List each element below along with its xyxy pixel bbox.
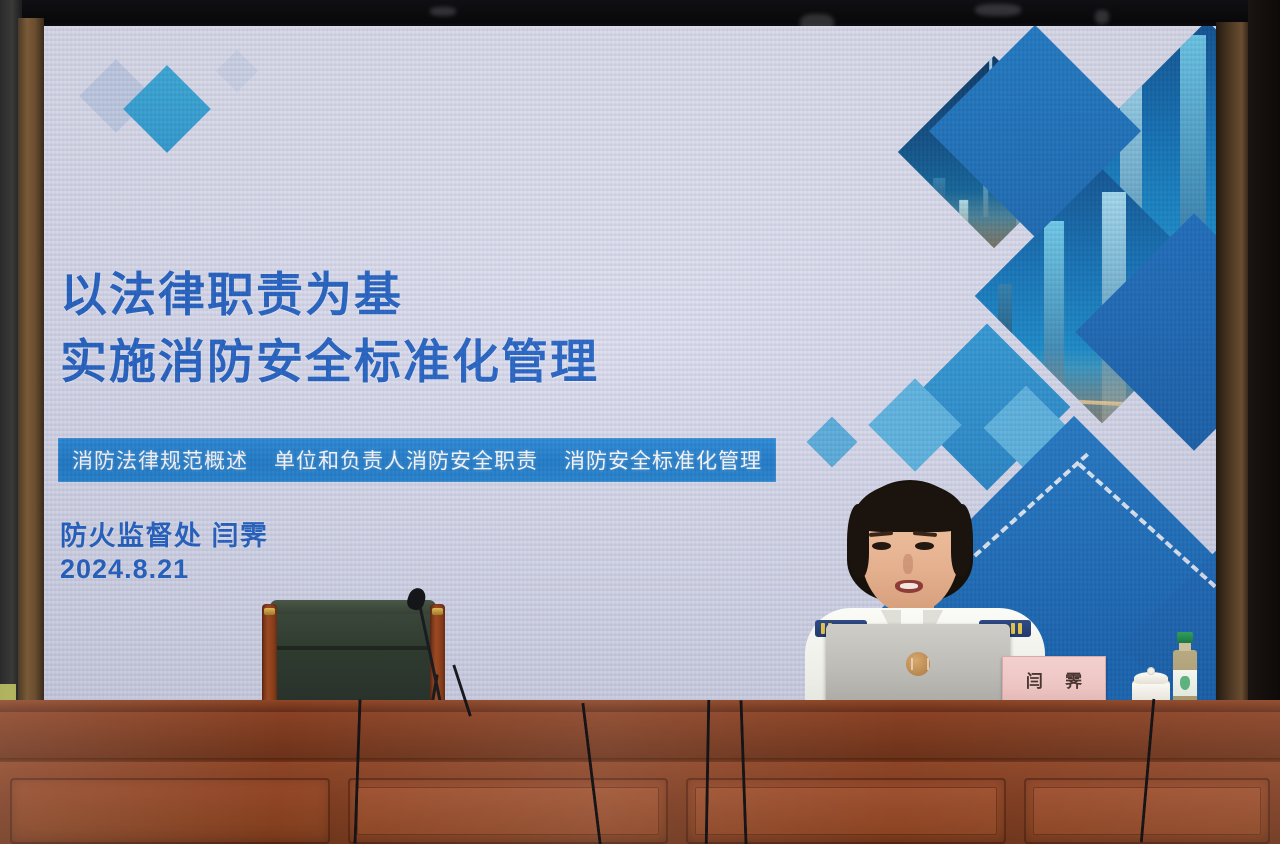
conference-desk bbox=[0, 700, 1280, 844]
nameplate-text: 闫 霁 bbox=[1017, 667, 1091, 692]
slide-title-line2: 实施消防安全标准化管理 bbox=[60, 329, 599, 396]
right-wooden-pillar bbox=[1216, 22, 1250, 712]
slide-title: 以法律职责为基 实施消防安全标准化管理 bbox=[60, 262, 599, 395]
agenda-item-3: 消防安全标准化管理 bbox=[564, 445, 762, 475]
agenda-item-2: 单位和负责人消防安全职责 bbox=[274, 445, 538, 475]
eye-left bbox=[872, 542, 891, 550]
slide-title-line1: 以法律职责为基 bbox=[60, 268, 403, 321]
conference-room-scene: 以法律职责为基 实施消防安全标准化管理 消防法律规范概述 单位和负责人消防安全职… bbox=[0, 0, 1280, 844]
bottle-cap bbox=[1177, 632, 1193, 643]
left-wooden-pillar bbox=[18, 18, 44, 712]
slide-agenda-ribbon: 消防法律规范概述 单位和负责人消防安全职责 消防安全标准化管理 bbox=[58, 438, 776, 482]
microphone-head-icon bbox=[405, 586, 428, 612]
slide-date: 2024.8.21 bbox=[60, 554, 189, 585]
gooseneck-microphone bbox=[404, 588, 468, 714]
right-wall bbox=[1248, 0, 1280, 712]
eye-right bbox=[915, 542, 934, 550]
laptop[interactable] bbox=[826, 624, 1010, 710]
slide-presenter-byline: 防火监督处 闫霁 bbox=[60, 514, 269, 553]
agenda-item-1: 消防法律规范概述 bbox=[72, 445, 248, 475]
desk-nameplate: 闫 霁 bbox=[1002, 656, 1106, 702]
hp-logo-icon bbox=[906, 652, 930, 676]
water-bottle bbox=[1172, 632, 1198, 710]
